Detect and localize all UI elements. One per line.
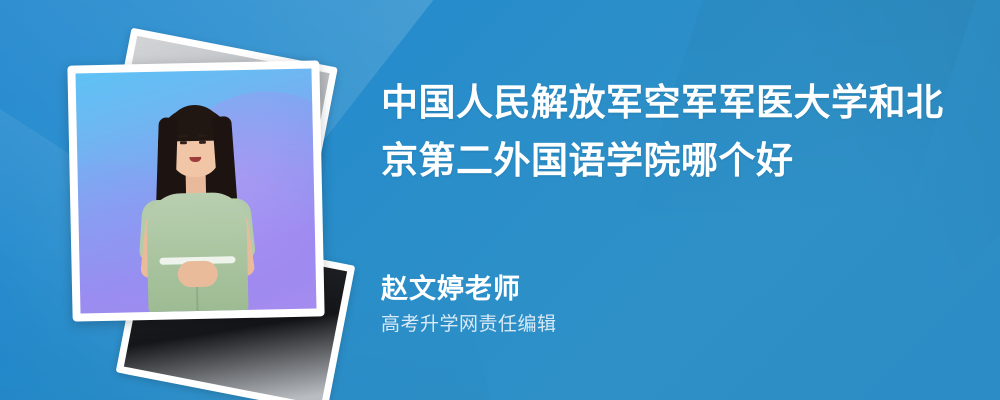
portrait-photo	[76, 69, 317, 314]
photo-stack	[40, 30, 360, 370]
page-title-line-2: 京第二外国语学院哪个好	[381, 132, 961, 190]
text-column: 中国人民解放军空军军医大学和北 京第二外国语学院哪个好 赵文婷老师 高考升学网责…	[381, 0, 981, 400]
page-title: 中国人民解放军空军军医大学和北 京第二外国语学院哪个好	[381, 74, 961, 190]
eye-left	[180, 141, 187, 144]
author-role: 高考升学网责任编辑	[381, 310, 557, 340]
article-banner: 中国人民解放军空军军医大学和北 京第二外国语学院哪个好 赵文婷老师 高考升学网责…	[0, 0, 1000, 400]
author-name: 赵文婷老师	[381, 272, 557, 306]
page-title-line-1: 中国人民解放军空军军医大学和北	[381, 74, 961, 132]
hands-shape	[177, 261, 218, 288]
eyebrow-left	[179, 135, 188, 137]
person-figure	[126, 98, 266, 313]
photo-card-main	[67, 60, 324, 321]
eyebrow-right	[198, 135, 207, 137]
author-block: 赵文婷老师 高考升学网责任编辑	[381, 272, 557, 340]
eye-right	[199, 141, 206, 144]
